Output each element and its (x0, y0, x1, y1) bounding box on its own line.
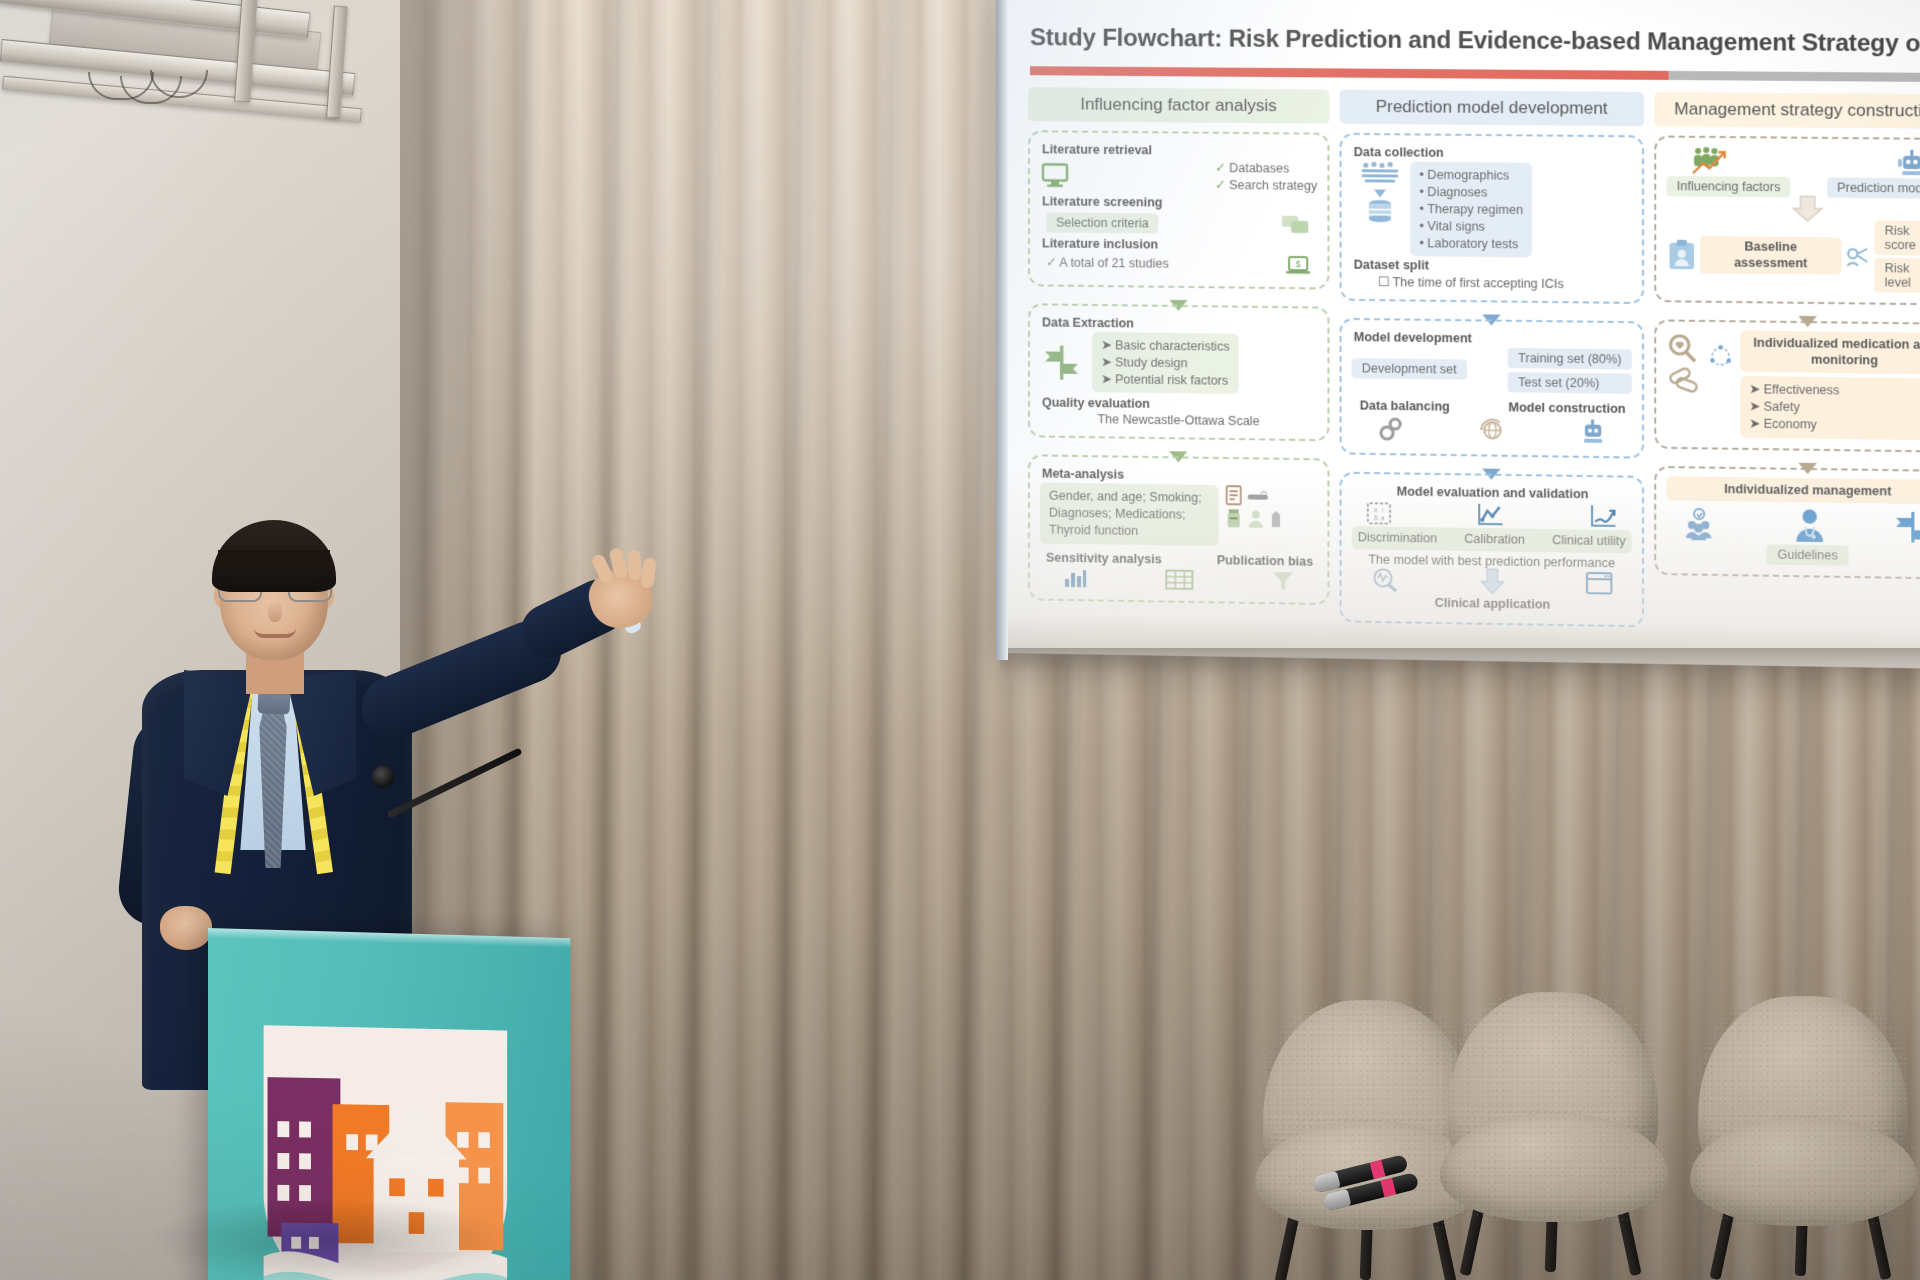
conference-room-scene: Study Flowchart: Risk Prediction and Evi… (0, 0, 1920, 1280)
network-icon (1709, 330, 1731, 367)
chip-test-set: Test set (20%) (1508, 373, 1632, 395)
laptop-money-icon: $ (1285, 255, 1311, 277)
magnifier-pulse-icon (1370, 567, 1400, 594)
box-individualized-medication: Individualized medication and monitoring… (1654, 319, 1920, 452)
funnel-icon (1271, 570, 1295, 592)
down-arrow-icon (1479, 569, 1505, 596)
presenter (120, 520, 590, 1080)
box-model-development: Model development Development set Traini… (1340, 318, 1644, 459)
doctor-icon (1792, 508, 1827, 543)
box-literature: Literature retrieval ✓ Databases ✓ Searc… (1028, 130, 1329, 289)
column-heading: Management strategy construction (1654, 92, 1920, 129)
column-prediction-model-development: Prediction model development Data collec… (1340, 90, 1644, 642)
bullet-demographics: Demographics (1427, 168, 1509, 183)
label-individualized-medication-monitoring: Individualized medication and monitoring (1740, 330, 1920, 374)
bullet-therapy-regimen: Therapy regimen (1427, 202, 1523, 217)
metric-calibration: Calibration (1464, 531, 1525, 549)
projection-screen[interactable]: Study Flowchart: Risk Prediction and Evi… (1004, 0, 1920, 669)
label-meta-analysis: Meta-analysis (1042, 467, 1317, 485)
globe-cycle-icon (1477, 416, 1507, 445)
team-idea-icon (1685, 507, 1726, 542)
people-growth-icon (1689, 146, 1730, 177)
pill-bottle-icon (1225, 509, 1243, 529)
chip-prediction-models: Prediction models (1827, 177, 1920, 198)
capsules-icon (1666, 366, 1701, 395)
svg-text:x: x (1374, 508, 1378, 515)
hair (212, 520, 336, 592)
report-icon (1225, 485, 1243, 505)
svg-text:x: x (1381, 516, 1385, 523)
table-icon (1165, 568, 1193, 590)
label-model-evaluation-validation: Model evaluation and validation (1354, 484, 1632, 502)
ceiling-truss (0, 0, 430, 200)
slide-content: Study Flowchart: Risk Prediction and Evi… (1004, 0, 1920, 669)
matrix-icon: x↑δx (1366, 502, 1392, 527)
bullet-safety: Safety (1764, 400, 1800, 415)
label-literature-inclusion: Literature inclusion (1042, 236, 1317, 253)
gears-icon (1376, 416, 1406, 443)
microphone-icon[interactable] (372, 766, 394, 788)
screen-bottom-shadow (1000, 648, 1920, 674)
clipboard-patient-icon (1666, 238, 1697, 271)
signpost-icon (1040, 341, 1084, 382)
text-first-accepting-icis: The time of first accepting ICIs (1393, 276, 1564, 292)
bullet-vital-signs: Vital signs (1427, 219, 1485, 234)
robot-icon (1579, 418, 1608, 447)
column-heading: Prediction model development (1340, 90, 1644, 127)
chip-meta-variables: Gender, and age; Smoking; Diagnoses; Med… (1040, 483, 1219, 546)
check-search-strategy: Search strategy (1229, 178, 1317, 193)
magnifier-heart-icon (1666, 334, 1701, 365)
bar-chart-icon (1062, 567, 1088, 589)
column-heading: Influencing factor analysis (1028, 87, 1329, 123)
mouth (254, 628, 296, 638)
person-icon (1247, 509, 1265, 529)
metric-clinical-utility: Clinical utility (1552, 532, 1626, 550)
presenter-left-hand (160, 906, 212, 950)
flowchart-columns: Influencing factor analysis Literature r… (1004, 75, 1920, 647)
trend-chart-icon (1589, 504, 1618, 531)
stage-chair (1440, 992, 1670, 1262)
chip-training-set: Training set (80%) (1508, 348, 1632, 370)
arrow-down-small-icon (1373, 188, 1387, 198)
label-dataset-split: Dataset split (1354, 258, 1632, 275)
label-publication-bias: Publication bias (1217, 553, 1314, 569)
chip-development-set: Development set (1352, 359, 1467, 381)
label-literature-retrieval: Literature retrieval (1042, 142, 1317, 158)
text-newcastle-ottawa-scale: The Newcastle-Ottawa Scale (1040, 412, 1317, 430)
thick-down-arrow-icon (1790, 195, 1825, 222)
label-clinical-application: Clinical application (1354, 595, 1632, 614)
bullet-economy: Economy (1764, 417, 1817, 432)
column-management-strategy-construction: Management strategy construction Influen… (1654, 92, 1920, 647)
chip-guidelines: Guidelines (1767, 544, 1848, 565)
robot-icon (1896, 148, 1920, 179)
database-icon (1365, 199, 1395, 225)
box-model-evaluation: Model evaluation and validation x↑δx (1340, 472, 1644, 628)
pen-icon (1269, 509, 1283, 529)
label-literature-screening: Literature screening (1042, 194, 1317, 211)
chip-risk-score: Risk score (1874, 220, 1920, 255)
slide-title: Study Flowchart: Risk Prediction and Evi… (1004, 6, 1920, 59)
label-model-development: Model development (1354, 330, 1632, 347)
bullet-study-design: Study design (1115, 355, 1188, 370)
box-baseline-assessment: Influencing factors Prediction models (1654, 135, 1920, 305)
metric-discrimination: Discrimination (1358, 530, 1437, 548)
stage-chair (1690, 996, 1920, 1266)
check-total-studies: A total of 21 studies (1059, 256, 1168, 271)
chip-risk-level: Risk level (1874, 258, 1920, 293)
label-data-extraction: Data Extraction (1042, 315, 1317, 332)
bullet-basic-characteristics: Basic characteristics (1115, 338, 1229, 353)
box-individualized-management: Individualized management (1654, 466, 1920, 580)
signpost-icon (1894, 510, 1920, 545)
label-data-collection: Data collection (1354, 145, 1632, 162)
check-databases: Databases (1229, 161, 1289, 176)
label-sensitivity-analysis: Sensitivity analysis (1046, 551, 1162, 567)
bullet-potential-risk-factors: Potential risk factors (1115, 372, 1228, 387)
crowd-icon (1360, 161, 1400, 188)
bullet-effectiveness: Effectiveness (1764, 383, 1840, 398)
bullet-laboratory-tests: Laboratory tests (1427, 236, 1518, 251)
chip-baseline-assessment: Baseline assessment (1700, 236, 1841, 275)
column-influencing-factor-analysis: Influencing factor analysis Literature r… (1028, 87, 1329, 636)
chip-influencing-factors: Influencing factors (1666, 176, 1790, 197)
window-icon (1585, 571, 1614, 596)
svg-text:δ: δ (1374, 516, 1378, 523)
box-meta-analysis: Meta-analysis Gender, and age; Smoking; … (1028, 455, 1329, 605)
svg-text:$: $ (1296, 259, 1301, 269)
line-chart-icon (1476, 502, 1504, 529)
label-model-construction: Model construction (1508, 401, 1625, 417)
floor-shadow (70, 1180, 590, 1280)
speech-bubbles-icon (1281, 212, 1311, 236)
box-data-extraction: Data Extraction ➤ Basic characteristics … (1028, 303, 1329, 442)
chip-selection-criteria: Selection criteria (1046, 212, 1159, 233)
person-share-icon (1844, 243, 1871, 270)
cigarette-icon (1247, 490, 1269, 502)
monitor-icon (1040, 162, 1070, 188)
svg-text:↑: ↑ (1381, 508, 1385, 515)
bullet-diagnoses: Diagnoses (1427, 185, 1487, 200)
box-data-collection: Data collection (1340, 133, 1644, 305)
label-data-balancing: Data balancing (1360, 399, 1450, 414)
label-quality-evaluation: Quality evaluation (1042, 396, 1317, 414)
screen-left-frame (996, 0, 1008, 660)
